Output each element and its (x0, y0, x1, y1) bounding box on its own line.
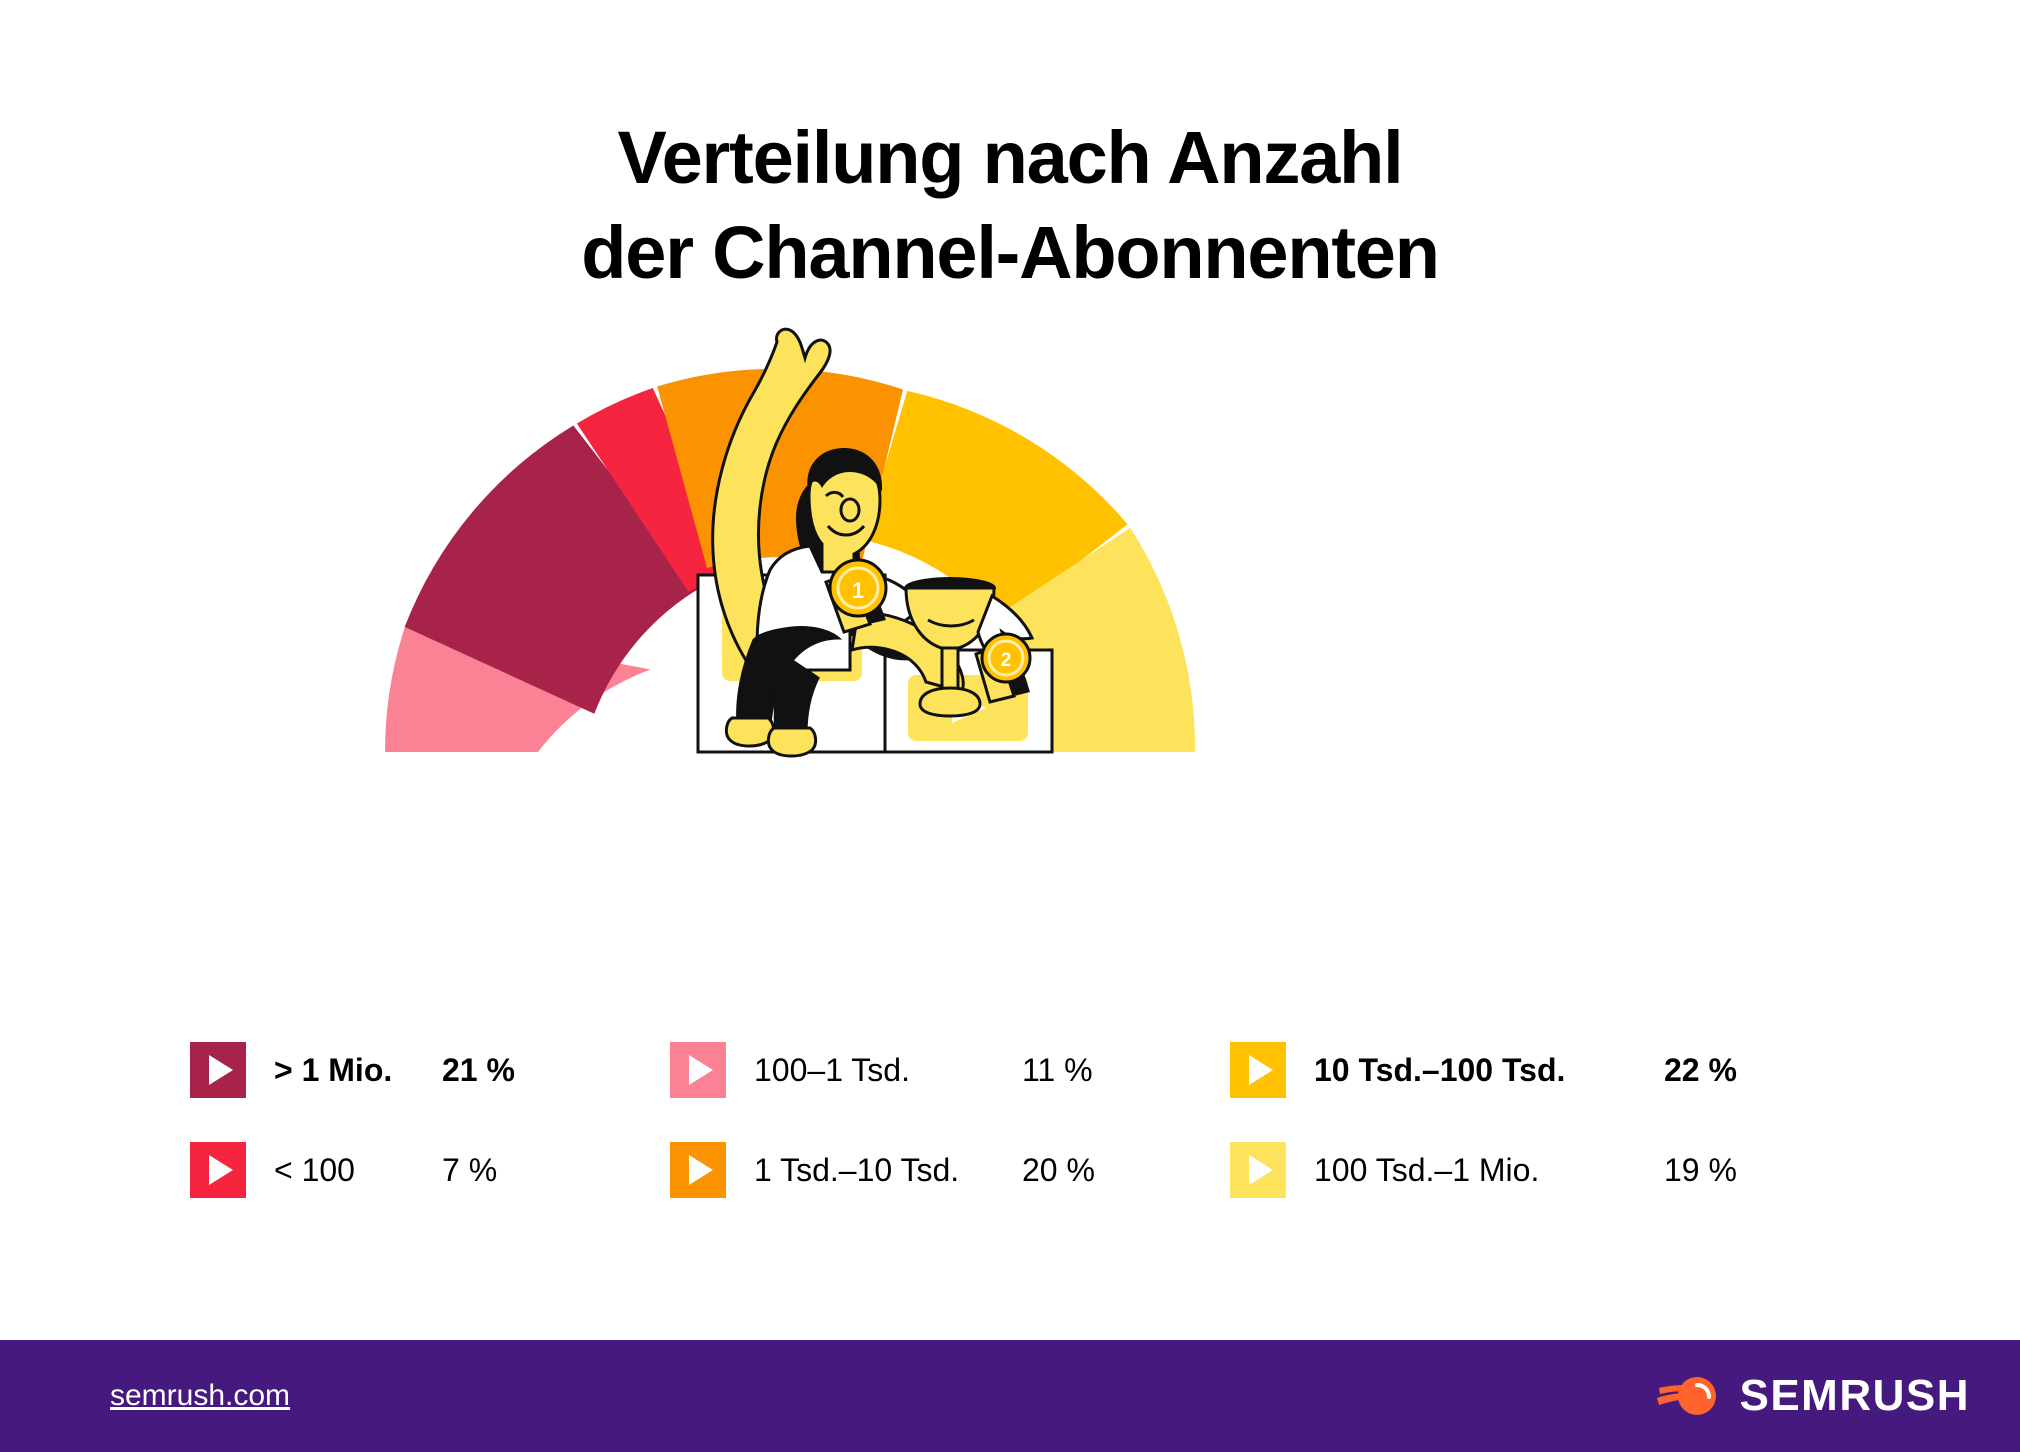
legend-value: 19 % (1664, 1152, 1737, 1189)
legend-item-100-tsd-1-mio[interactable]: 100 Tsd.–1 Mio. 19 % (1230, 1139, 1830, 1201)
play-icon (190, 1042, 246, 1098)
page-title-line-2: der Channel-Abonnenten (0, 205, 2020, 300)
legend-label: 10 Tsd.–100 Tsd. (1314, 1052, 1664, 1089)
legend-label: 100–1 Tsd. (754, 1052, 1022, 1089)
legend-item-10-100-tsd[interactable]: 10 Tsd.–100 Tsd. 22 % (1230, 1039, 1830, 1101)
play-icon (670, 1042, 726, 1098)
play-icon (190, 1142, 246, 1198)
legend-item-lt-100[interactable]: < 100 7 % (190, 1139, 670, 1201)
chart-legend: > 1 Mio. 21 % 100–1 Tsd. 11 % 10 Tsd.–10… (190, 1020, 1890, 1220)
page-title: Verteilung nach Anzahl der Channel-Abonn… (0, 110, 2020, 300)
legend-item-gt-1-mio[interactable]: > 1 Mio. 21 % (190, 1039, 670, 1101)
footer-bar: semrush.com SEMRUSH (0, 1340, 2020, 1452)
legend-item-1-10-tsd[interactable]: 1 Tsd.–10 Tsd. 20 % (670, 1139, 1230, 1201)
legend-item-100-1-tsd[interactable]: 100–1 Tsd. 11 % (670, 1039, 1230, 1101)
legend-value: 7 % (442, 1152, 497, 1189)
page-title-line-1: Verteilung nach Anzahl (0, 110, 2020, 205)
shoe-left (726, 718, 773, 746)
legend-label: 100 Tsd.–1 Mio. (1314, 1152, 1664, 1189)
legend-value: 22 % (1664, 1052, 1737, 1089)
legend-value: 21 % (442, 1052, 515, 1089)
legend-label: < 100 (274, 1152, 442, 1189)
semrush-logo[interactable]: SEMRUSH (1657, 1371, 1970, 1421)
play-icon (1230, 1142, 1286, 1198)
legend-value: 20 % (1022, 1152, 1095, 1189)
svg-text:1: 1 (852, 578, 864, 603)
shoe-right (768, 728, 815, 756)
semrush-wordmark: SEMRUSH (1739, 1371, 1970, 1421)
legend-value: 11 % (1022, 1052, 1093, 1089)
legend-label: 1 Tsd.–10 Tsd. (754, 1152, 1022, 1189)
svg-text:2: 2 (1001, 650, 1012, 671)
footer-website-link[interactable]: semrush.com (110, 1379, 290, 1413)
play-icon (1230, 1042, 1286, 1098)
play-icon (670, 1142, 726, 1198)
infographic-page: Verteilung nach Anzahl der Channel-Abonn… (0, 0, 2020, 1452)
gauge-svg: 1 2 (330, 320, 1330, 780)
semrush-comet-icon (1657, 1372, 1719, 1420)
legend-label: > 1 Mio. (274, 1052, 442, 1089)
subscriber-distribution-gauge: 1 2 (330, 320, 1330, 780)
